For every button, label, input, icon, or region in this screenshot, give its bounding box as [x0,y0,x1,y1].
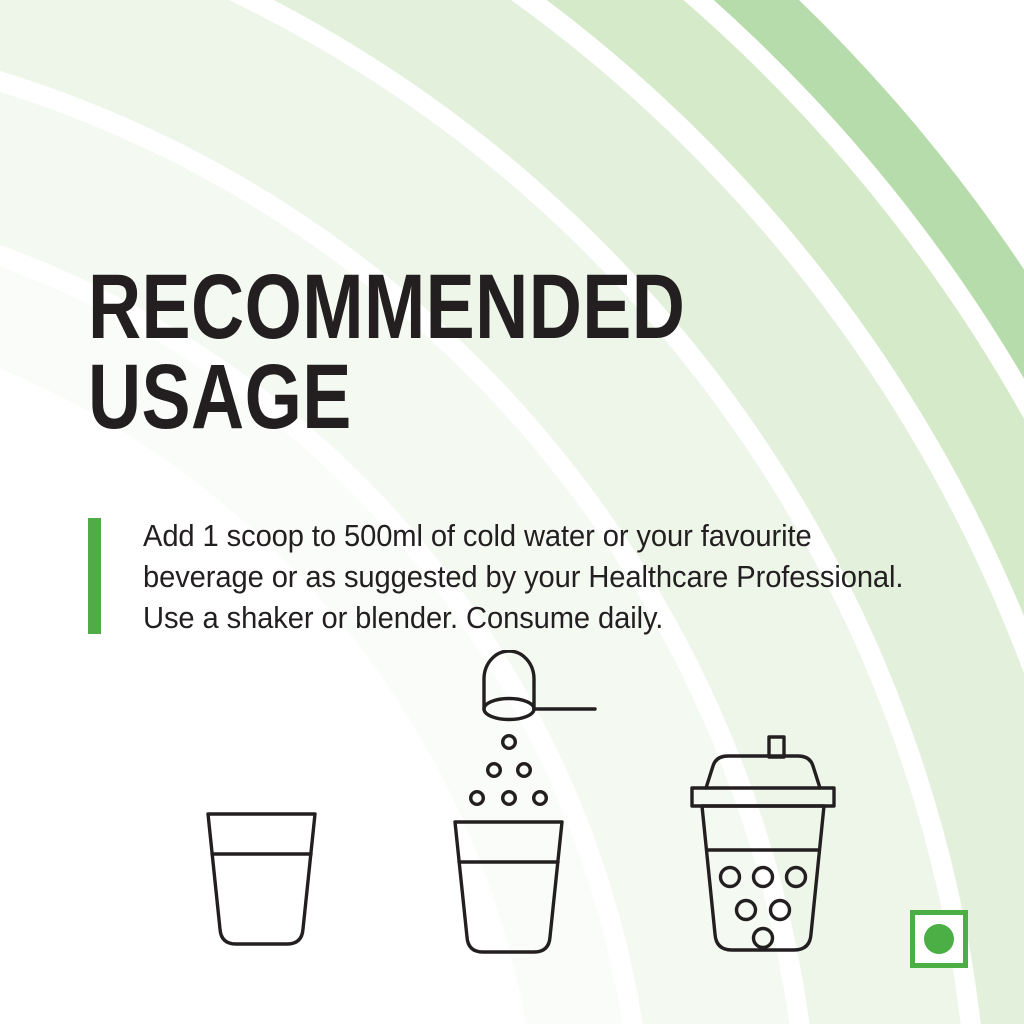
usage-instruction-text: Add 1 scoop to 500ml of cold water or yo… [143,516,912,639]
shaker-bubble [737,901,756,920]
shaker-bubble [771,901,790,920]
scoop-rim [484,699,534,720]
vegetarian-mark-icon [910,910,968,968]
vegetarian-mark-dot [924,924,954,954]
shaker-collar [692,788,834,806]
usage-instruction-block: Add 1 scoop to 500ml of cold water or yo… [88,516,948,639]
powder-dot [488,764,501,777]
accent-bar [88,518,101,634]
shaker-bubble [754,868,773,887]
shaker-lid [706,756,820,788]
shaker-spout [769,737,784,757]
shaker-bubble [721,868,740,887]
glass-of-water-icon [186,792,336,972]
powder-dot [503,736,516,749]
powder-dot [534,792,547,805]
scoop-pouring-into-glass-icon [440,650,620,972]
glass-body [455,822,562,952]
powder-dot [518,764,531,777]
shaker-bubble [754,929,773,948]
usage-steps-illustration [0,640,1024,970]
page-title: RECOMMENDED USAGE [88,262,696,442]
powder-dot [471,792,484,805]
powder-dot [503,792,516,805]
shaker-bubble [787,868,806,887]
shaker-bottle-icon [680,722,850,972]
recommended-usage-card: RECOMMENDED USAGE Add 1 scoop to 500ml o… [0,0,1024,1024]
